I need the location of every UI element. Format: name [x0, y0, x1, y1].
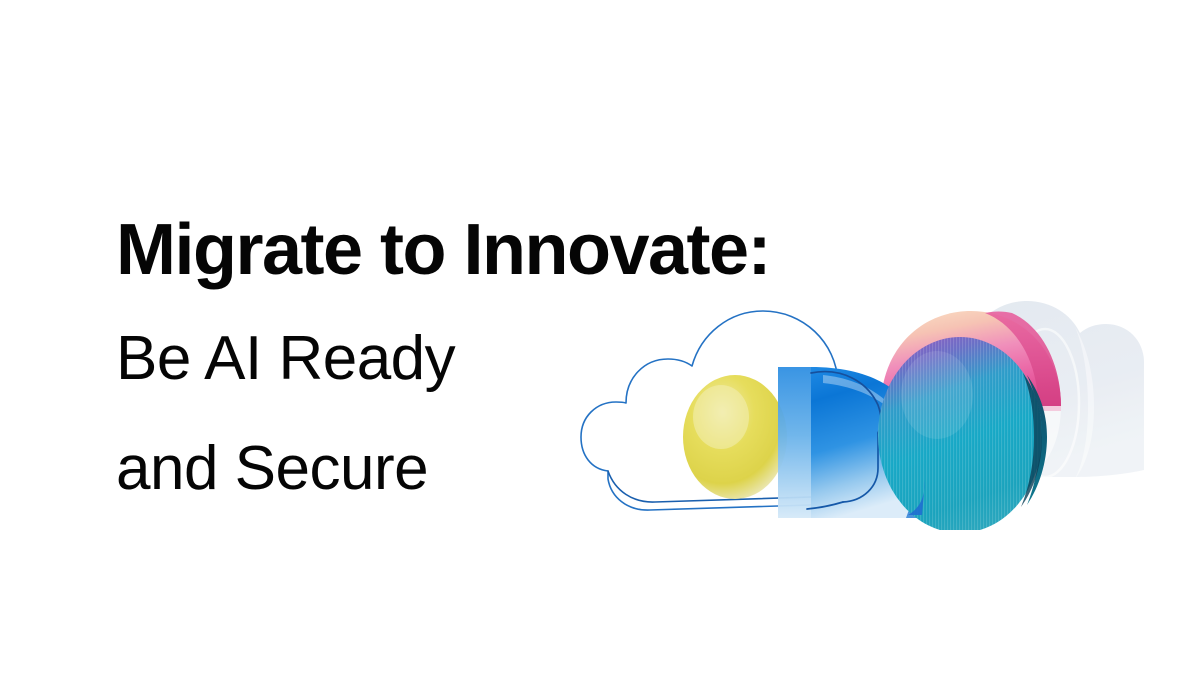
abstract-cloud-illustration [575, 265, 1145, 530]
cloud-graphic-svg [575, 265, 1145, 530]
yellow-sphere-shape [683, 375, 787, 499]
slide-canvas: Migrate to Innovate: Be AI Ready and Sec… [0, 0, 1200, 700]
